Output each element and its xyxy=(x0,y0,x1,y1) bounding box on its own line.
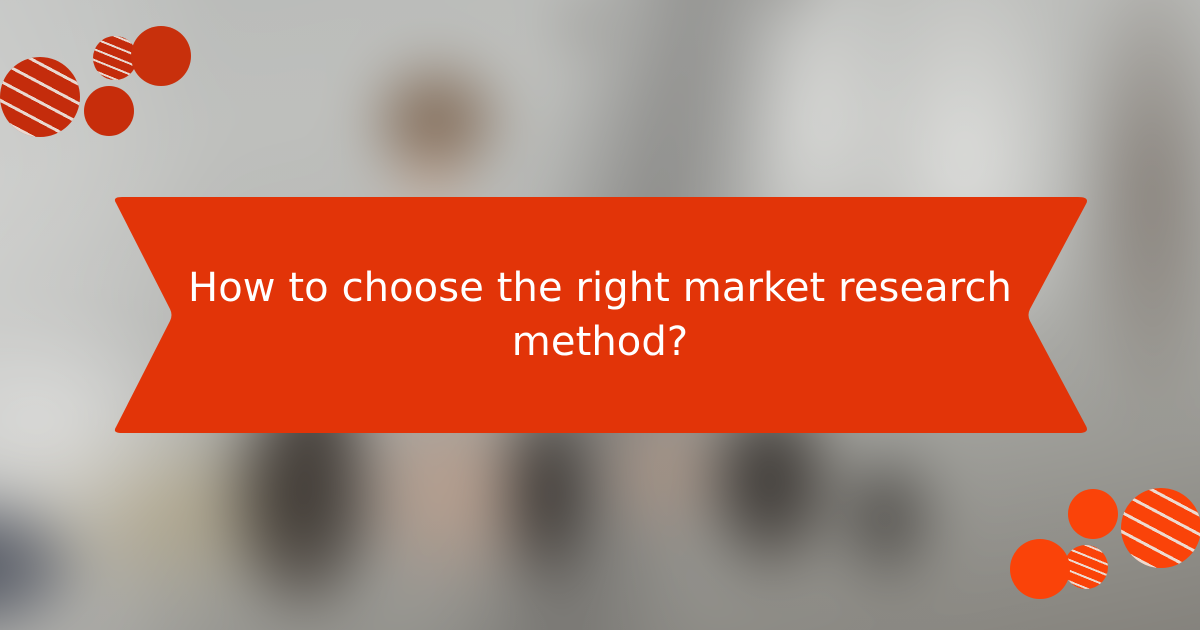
banner-title-block: How to choose the right market research … xyxy=(108,197,1092,433)
circle-plain-medium-icon xyxy=(1068,489,1118,539)
circle-striped-large-icon xyxy=(1121,488,1200,568)
circle-striped-large-icon xyxy=(0,57,80,137)
page-title-line-1: How to choose the right market research xyxy=(188,261,1012,315)
social-card-canvas: How to choose the right market research … xyxy=(0,0,1200,630)
circle-plain-large-icon xyxy=(1010,539,1070,599)
circle-plain-medium-icon xyxy=(84,86,134,136)
page-title-line-2: method? xyxy=(512,315,688,369)
circle-plain-large-icon xyxy=(131,26,191,86)
circle-striped-small-icon xyxy=(1064,545,1108,589)
